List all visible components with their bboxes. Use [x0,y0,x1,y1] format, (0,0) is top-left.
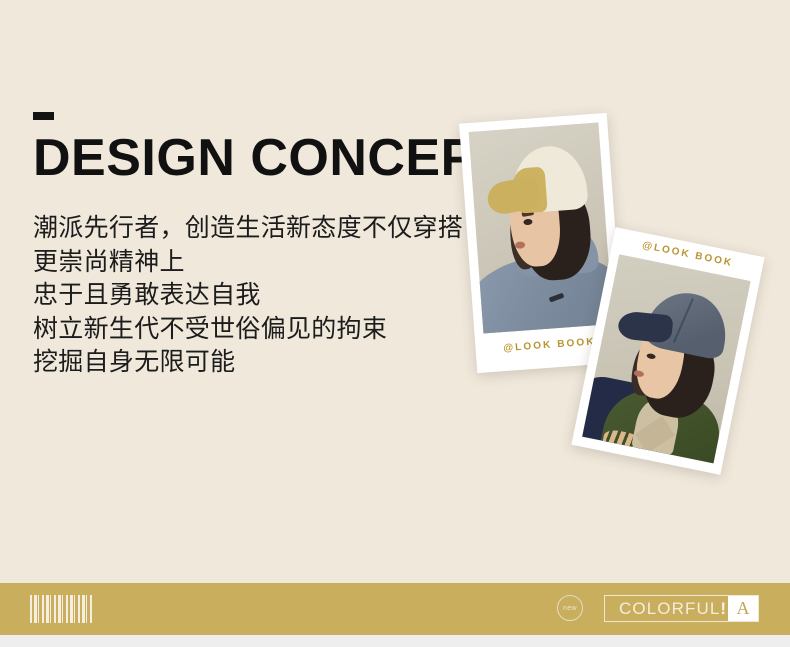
model-photo-cream-cap [469,123,613,334]
colorful-word: COLORFUL [619,599,720,618]
body-line: 潮派先行者，创造生活新态度不仅穿搭 [33,212,493,246]
model-photo-navy-cap [582,254,750,463]
poster-canvas: DESIGN CONCEPT 潮派先行者，创造生活新态度不仅穿搭 更崇尚精神上 … [0,0,790,647]
eyebrow-dash-icon [33,112,54,120]
letter-mark: A [737,598,750,619]
barcode-icon [30,595,92,623]
body-line: 更崇尚精神上 [33,246,493,280]
body-copy: 潮派先行者，创造生活新态度不仅穿搭 更崇尚精神上 忠于且勇敢表达自我 树立新生代… [33,212,493,380]
page-title: DESIGN CONCEPT [33,131,493,185]
letter-mark-box: A [728,596,758,621]
colorful-label: COLORFUL! [605,599,727,619]
footer-strip [0,635,790,647]
new-badge-label: new [563,605,577,612]
body-line: 挖掘自身无限可能 [33,346,493,380]
colorful-exclamation: ! [720,599,727,618]
body-line: 忠于且勇敢表达自我 [33,279,493,313]
headline-text-block: DESIGN CONCEPT 潮派先行者，创造生活新态度不仅穿搭 更崇尚精神上 … [33,112,493,380]
body-line: 树立新生代不受世俗偏见的拘束 [33,313,493,347]
colorful-badge[interactable]: COLORFUL! A [604,595,759,622]
new-badge[interactable]: new [557,595,583,621]
